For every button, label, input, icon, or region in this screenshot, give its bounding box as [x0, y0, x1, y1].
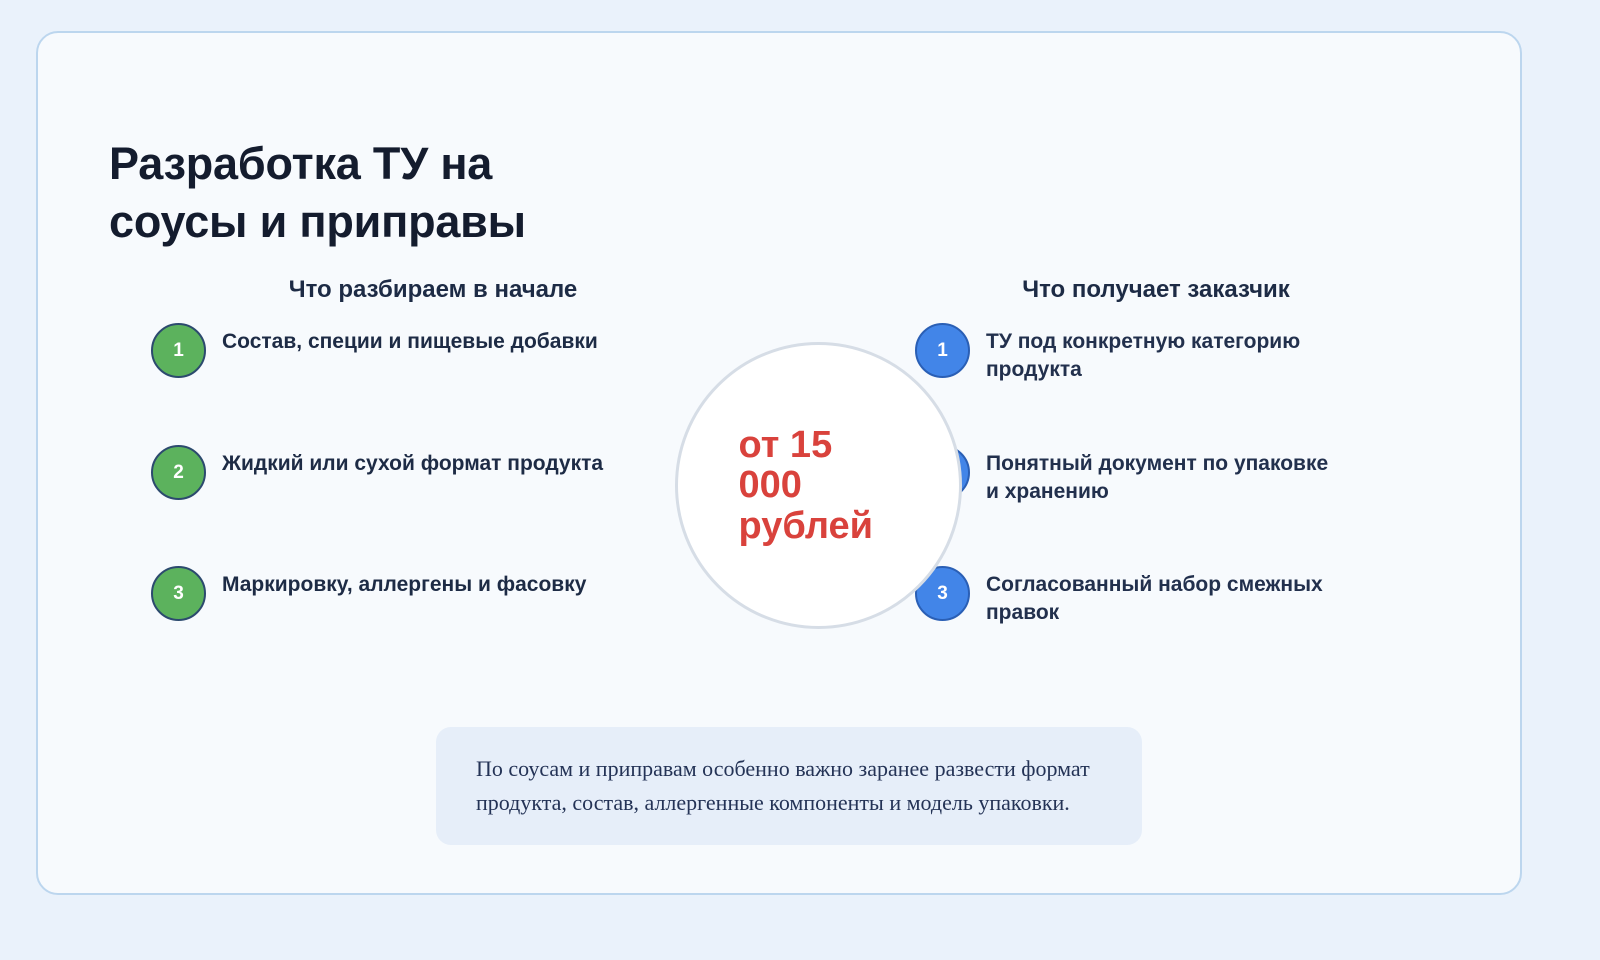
- step-badge: 2: [151, 445, 206, 500]
- left-list-item: 1 Состав, специи и пищевые добавки: [151, 323, 621, 378]
- right-list-item-label: ТУ под конкретную категорию продукта: [986, 323, 1335, 384]
- step-badge: 1: [151, 323, 206, 378]
- right-list-item: 2 Понятный документ по упаковке и хранен…: [915, 445, 1335, 506]
- left-list-item: 3 Маркировку, аллергены и фасовку: [151, 566, 621, 621]
- right-list-item-label: Согласованный набор смежных правок: [986, 566, 1335, 627]
- right-list-item: 1 ТУ под конкретную категорию продукта: [915, 323, 1335, 384]
- note-box: По соусам и приправам особенно важно зар…: [436, 727, 1142, 845]
- page-title-line-1: Разработка ТУ на: [109, 135, 869, 193]
- note-text: По соусам и приправам особенно важно зар…: [436, 752, 1142, 820]
- step-badge: 3: [151, 566, 206, 621]
- left-list-item-label: Состав, специи и пищевые добавки: [222, 323, 598, 356]
- page-title: Разработка ТУ на соусы и приправы: [109, 135, 869, 250]
- left-list-item: 2 Жидкий или сухой формат продукта: [151, 445, 621, 500]
- price-circle: от 15 000 рублей: [675, 342, 962, 629]
- left-column-heading: Что разбираем в начале: [153, 276, 713, 304]
- right-list-item: 3 Согласованный набор смежных правок: [915, 566, 1335, 627]
- step-badge: 1: [915, 323, 970, 378]
- page-title-line-2: соусы и приправы: [109, 193, 869, 251]
- left-list-item-label: Жидкий или сухой формат продукта: [222, 445, 603, 478]
- price-label: от 15 000 рублей: [739, 425, 899, 546]
- right-list-item-label: Понятный документ по упаковке и хранению: [986, 445, 1335, 506]
- right-column-heading: Что получает заказчик: [876, 276, 1436, 304]
- left-list-item-label: Маркировку, аллергены и фасовку: [222, 566, 586, 599]
- infographic-card: Разработка ТУ на соусы и приправы Что ра…: [36, 31, 1522, 895]
